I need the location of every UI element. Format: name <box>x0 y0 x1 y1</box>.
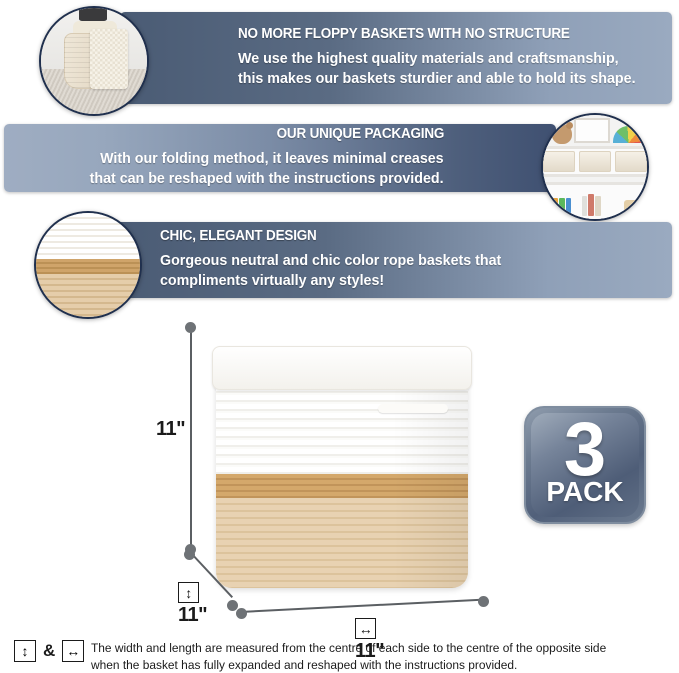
feature-title-packaging: OUR UNIQUE PACKAGING <box>276 127 444 143</box>
height-dimension-dot-top <box>185 322 196 333</box>
width-dimension-line <box>240 599 484 613</box>
ampersand-label: & <box>43 640 55 662</box>
feature-title-design: CHIC, ELEGANT DESIGN <box>160 229 317 245</box>
feature-title-structure: NO MORE FLOPPY BASKETS WITH NO STRUCTURE <box>238 27 570 43</box>
height-dimension-label: 11" <box>156 418 185 441</box>
feature-body-structure-line1: We use the highest quality materials and… <box>238 49 619 69</box>
feature-banner-design: CHIC, ELEGANT DESIGN Gorgeous neutral an… <box>112 222 672 298</box>
measurement-note-text: The width and length are measured from t… <box>91 640 606 673</box>
measurement-note-line1: The width and length are measured from t… <box>91 641 606 655</box>
pack-count-badge: 3 PACK <box>524 406 646 524</box>
horizontal-arrow-icon: ↔ <box>355 618 376 639</box>
feature-photo-design <box>34 211 142 319</box>
feature-photo-packaging <box>541 113 649 221</box>
feature-body-design-line1: Gorgeous neutral and chic color rope bas… <box>160 251 501 271</box>
feature-body-packaging-line2: that can be reshaped with the instructio… <box>90 169 444 189</box>
width-dimension-dot-left <box>236 608 247 619</box>
feature-banner-structure: NO MORE FLOPPY BASKETS WITH NO STRUCTURE… <box>120 12 672 104</box>
vertical-arrow-icon: ↕ <box>14 640 36 662</box>
feature-body-structure-line2: this makes our baskets sturdier and able… <box>238 69 636 89</box>
pack-count-unit: PACK <box>546 478 623 506</box>
depth-dimension-dot-top <box>184 549 195 560</box>
feature-banner-packaging: OUR UNIQUE PACKAGING With our folding me… <box>4 124 556 192</box>
vertical-arrow-icon: ↕ <box>178 582 199 603</box>
product-basket-image <box>198 322 488 592</box>
horizontal-arrow-icon: ↔ <box>62 640 84 662</box>
depth-dimension-label: ↕11" <box>178 581 207 627</box>
feature-body-packaging-line1: With our folding method, it leaves minim… <box>100 149 444 169</box>
pack-count-number: 3 <box>564 420 606 479</box>
product-infographic: NO MORE FLOPPY BASKETS WITH NO STRUCTURE… <box>0 0 679 673</box>
measurement-note-line2: when the basket has fully expanded and r… <box>91 658 517 672</box>
feature-body-design-line2: compliments virtually any styles! <box>160 271 384 291</box>
width-dimension-dot-right <box>478 596 489 607</box>
measurement-note: ↕ & ↔ The width and length are measured … <box>14 640 674 673</box>
feature-photo-structure <box>39 6 149 116</box>
height-dimension-line <box>190 327 192 549</box>
